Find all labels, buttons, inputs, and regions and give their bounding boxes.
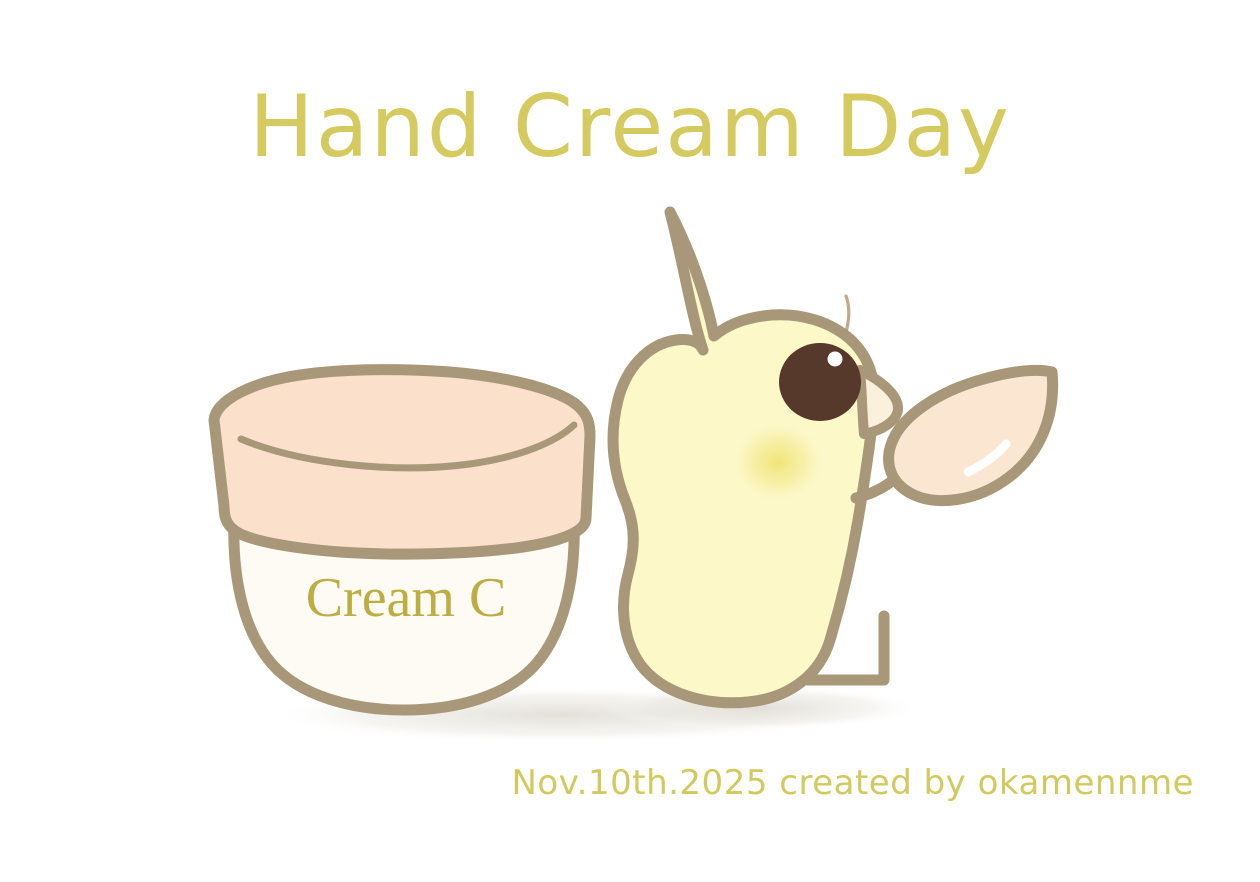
jar-lid [214,370,590,554]
chick-eye-highlight-icon [828,352,843,367]
cream-dollop [889,370,1053,500]
illustration-svg [0,0,1260,882]
chick-eye [779,343,861,421]
chick-character [613,212,900,703]
cream-jar [214,370,590,710]
chick-beak [860,370,898,434]
cream-dollop-shape [889,370,1053,500]
artwork-canvas: Hand Cream Day Cream C Nov.10th.2025 cre… [0,0,1260,882]
chick-blush [730,420,826,504]
